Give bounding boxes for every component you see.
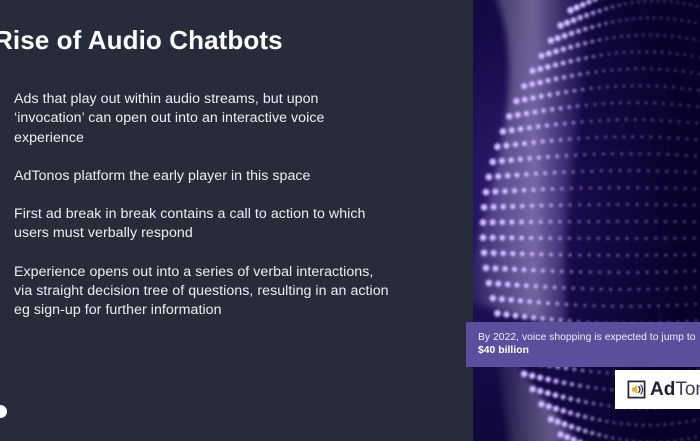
page-title: Rise of Audio Chatbots <box>0 26 464 56</box>
slide-body: Ads that play out within audio streams, … <box>14 90 464 321</box>
body-paragraph: First ad break in break contains a call … <box>14 205 464 244</box>
logo-wordmark: AdTon <box>650 380 700 399</box>
adtonos-logo: AdTon <box>615 370 700 409</box>
callout-text-line1: By 2022, voice shopping is expected to j… <box>478 331 700 344</box>
logo-word-light: Ton <box>675 379 700 400</box>
corner-dot-decoration <box>0 405 7 418</box>
body-paragraph: Experience opens out into a series of ve… <box>14 263 464 321</box>
callout-text-line2: $40 billion <box>478 344 700 357</box>
speaker-icon <box>627 380 646 399</box>
stat-callout: By 2022, voice shopping is expected to j… <box>466 322 700 367</box>
body-paragraph: AdTonos platform the early player in thi… <box>14 167 464 186</box>
presentation-slide: Rise of Audio Chatbots Ads that play out… <box>0 0 700 441</box>
body-paragraph: Ads that play out within audio streams, … <box>14 90 464 148</box>
logo-word-bold: Ad <box>650 379 675 400</box>
